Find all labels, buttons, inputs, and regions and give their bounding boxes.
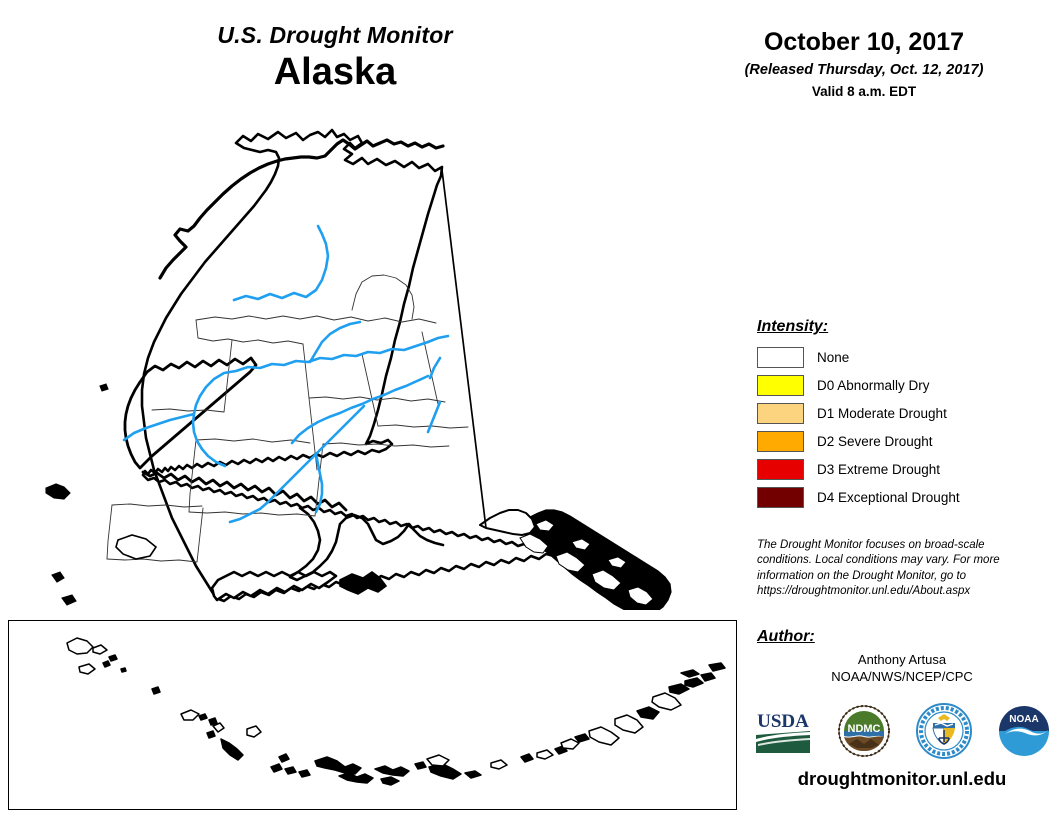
author-block: Author: Anthony Artusa NOAA/NWS/NCEP/CPC: [757, 628, 1047, 686]
noaa-logo[interactable]: NOAA: [996, 703, 1052, 764]
disclaimer-line-3: information on the Drought Monitor, go t…: [757, 569, 1047, 584]
legend-label-d1: D1 Moderate Drought: [817, 406, 947, 421]
legend-label-d3: D3 Extreme Drought: [817, 462, 940, 477]
panhandle-north-outline: [480, 510, 535, 535]
usda-logo[interactable]: USDA: [752, 705, 814, 762]
author-affiliation: NOAA/NWS/NCEP/CPC: [757, 669, 1047, 686]
usda-logo-text: USDA: [757, 711, 809, 732]
legend-swatch-none: [757, 347, 804, 368]
legend-label-d0: D0 Abnormally Dry: [817, 378, 930, 393]
site-url[interactable]: droughtmonitor.unl.edu: [752, 768, 1052, 790]
author-name: Anthony Artusa: [757, 652, 1047, 669]
pribilof-island-b: [62, 595, 76, 605]
intensity-legend: Intensity: None D0 Abnormally Dry D1 Mod…: [757, 318, 1047, 511]
release-date: (Released Thursday, Oct. 12, 2017): [672, 62, 1056, 78]
legend-swatch-d0: [757, 375, 804, 396]
legend-item-none[interactable]: None: [757, 343, 1047, 371]
disclaimer-line-1: The Drought Monitor focuses on broad-sca…: [757, 538, 1047, 553]
agency-logos: USDA NDMC: [752, 702, 1052, 764]
legend-label-d2: D2 Severe Drought: [817, 434, 933, 449]
legend-item-d3[interactable]: D3 Extreme Drought: [757, 455, 1047, 483]
page-title: U.S. Drought Monitor: [0, 22, 670, 49]
usdoc-seal-logo[interactable]: [915, 702, 973, 765]
aleutian-chain: [67, 638, 725, 785]
legend-item-d1[interactable]: D1 Moderate Drought: [757, 399, 1047, 427]
author-title: Author:: [757, 628, 1047, 646]
legend-item-d2[interactable]: D2 Severe Drought: [757, 427, 1047, 455]
legend-swatch-d4: [757, 487, 804, 508]
aleutian-islands-inset[interactable]: [8, 620, 737, 810]
header-right: October 10, 2017 (Released Thursday, Oct…: [672, 28, 1056, 99]
canada-border-141w: [442, 170, 486, 528]
map-date: October 10, 2017: [672, 28, 1056, 57]
legend-swatch-d2: [757, 431, 804, 452]
disclaimer-about-link[interactable]: https://droughtmonitor.unl.edu/About.asp…: [757, 584, 1047, 599]
alaska-main-map[interactable]: [0, 110, 740, 610]
noaa-logo-text: NOAA: [1009, 714, 1038, 725]
legend-swatch-d1: [757, 403, 804, 424]
valid-time: Valid 8 a.m. EDT: [672, 84, 1056, 99]
page-subtitle-state: Alaska: [0, 51, 670, 95]
legend-title: Intensity:: [757, 318, 1047, 336]
legend-item-d4[interactable]: D4 Exceptional Drought: [757, 483, 1047, 511]
nunivak-island: [116, 535, 156, 559]
diomede-islet: [100, 384, 108, 391]
offshore-islands: [46, 384, 156, 605]
disclaimer-line-2: conditions. Local conditions may vary. F…: [757, 553, 1047, 568]
alaska-peninsula-coastline: [212, 572, 336, 600]
pribilof-island-a: [52, 572, 64, 582]
st-lawrence-island: [46, 484, 70, 499]
ndmc-logo[interactable]: NDMC: [837, 704, 891, 763]
legend-item-d0[interactable]: D0 Abnormally Dry: [757, 371, 1047, 399]
legend-label-none: None: [817, 350, 849, 365]
legend-swatch-d3: [757, 459, 804, 480]
ndmc-logo-text: NDMC: [848, 723, 881, 735]
author-details: Anthony Artusa NOAA/NWS/NCEP/CPC: [757, 652, 1047, 686]
header-left: U.S. Drought Monitor Alaska: [0, 22, 670, 95]
disclaimer-text: The Drought Monitor focuses on broad-sca…: [757, 538, 1047, 599]
legend-label-d4: D4 Exceptional Drought: [817, 490, 960, 505]
map-layers: [46, 130, 671, 610]
